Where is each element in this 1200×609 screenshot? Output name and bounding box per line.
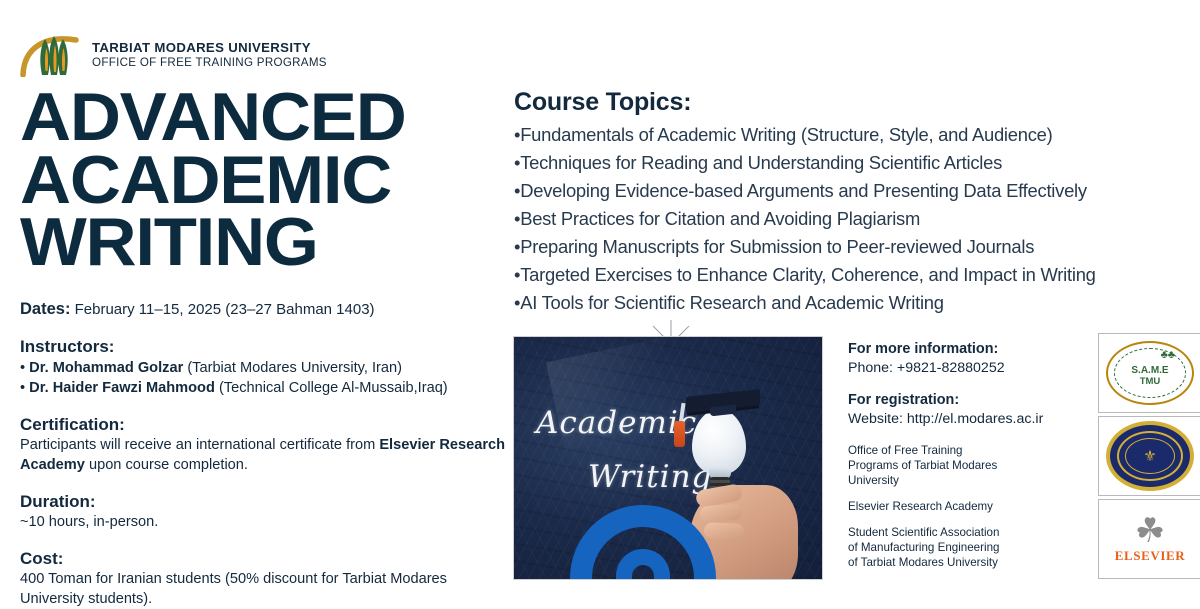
tmu-seal-logo-box: ⚜	[1098, 416, 1200, 496]
left-column: TARBIAT MODARES UNIVERSITY OFFICE OF FRE…	[20, 30, 512, 609]
tmu-tulip-arch-logo-icon	[20, 31, 82, 77]
contact-section: For more information: Phone: +9821-82880…	[848, 340, 1088, 570]
seal-emblem: ⚜	[1143, 449, 1156, 464]
cost-text: 400 Toman for Iranian students (50% disc…	[20, 570, 512, 609]
brand-text: TARBIAT MODARES UNIVERSITY OFFICE OF FRE…	[92, 39, 327, 69]
topic-item: •Preparing Manuscripts for Submission to…	[514, 233, 1200, 261]
course-topics-section: Course Topics: •Fundamentals of Academic…	[514, 88, 1200, 317]
topic-item: •Best Practices for Citation and Avoidin…	[514, 205, 1200, 233]
sponsor-logo-stack: ♣♣ S.A.M.E TMU ⚜ ☘ ELSEVIER	[1098, 333, 1200, 582]
duration-text: ~10 hours, in-person.	[20, 513, 512, 532]
trees-icon: ♣♣	[1161, 350, 1175, 361]
certification-text-before: Participants will receive an internation…	[20, 437, 379, 453]
tarbiat-modares-university-seal-icon: ⚜	[1106, 421, 1194, 491]
registration-heading: For registration:	[848, 391, 1088, 410]
instructors-block: Instructors: • Dr. Mohammad Golzar (Tarb…	[20, 336, 512, 398]
instructor-name: Dr. Haider Fawzi Mahmood	[29, 380, 215, 396]
bullet: •	[20, 380, 25, 396]
title-line-1: ADVANCED	[20, 86, 532, 149]
organizer-item: Elsevier Research Academy	[848, 499, 1088, 514]
topic-item: •Developing Evidence-based Arguments and…	[514, 177, 1200, 205]
instructor-item: • Dr. Haider Fawzi Mahmood (Technical Co…	[20, 378, 512, 398]
duration-heading: Duration:	[20, 491, 512, 513]
course-photo: Academic Writing	[513, 336, 823, 580]
instructors-heading: Instructors:	[20, 336, 512, 358]
same-tmu-logo-icon: ♣♣ S.A.M.E TMU	[1106, 341, 1194, 405]
registration-website-link[interactable]: Website: http://el.modares.ac.ir	[848, 410, 1088, 429]
photo-script-line-1: Academic	[536, 405, 697, 441]
elsevier-wordmark: ELSEVIER	[1115, 549, 1186, 562]
certification-block: Certification: Participants will receive…	[20, 414, 512, 475]
bullet: •	[20, 360, 25, 376]
tmu-label: TMU	[1140, 376, 1161, 388]
certification-text: Participants will receive an internation…	[20, 436, 512, 475]
dates-row: Dates: February 11–15, 2025 (23–27 Bahma…	[20, 298, 512, 320]
university-name: TARBIAT MODARES UNIVERSITY	[92, 41, 327, 56]
elsevier-tree-icon: ☘	[1115, 516, 1186, 547]
organizer-item: Office of Free Training Programs of Tarb…	[848, 443, 1088, 488]
elsevier-logo-box: ☘ ELSEVIER	[1098, 499, 1200, 579]
phone-number[interactable]: Phone: +9821-82880252	[848, 359, 1088, 378]
certification-text-after: upon course completion.	[85, 457, 248, 473]
topic-item: •Fundamentals of Academic Writing (Struc…	[514, 121, 1200, 149]
instructor-affiliation: (Technical College Al-Mussaib,Iraq)	[219, 380, 448, 396]
course-topics-heading: Course Topics:	[514, 88, 1200, 117]
dates-value: February 11–15, 2025 (23–27 Bahman 1403)	[75, 301, 375, 318]
same-label: S.A.M.E	[1131, 366, 1168, 376]
office-name: OFFICE OF FREE TRAINING PROGRAMS	[92, 56, 327, 69]
instructor-affiliation: (Tarbiat Modares University, Iran)	[187, 360, 402, 376]
page-title: ADVANCED ACADEMIC WRITING	[20, 86, 532, 274]
tassel-icon	[674, 421, 685, 447]
title-line-2: ACADEMIC	[20, 149, 532, 212]
spacer	[848, 378, 1088, 391]
photo-script-line-2: Writing	[588, 459, 712, 495]
topic-item: •Targeted Exercises to Enhance Clarity, …	[514, 261, 1200, 289]
blue-arch-graphic	[570, 505, 716, 580]
more-information-heading: For more information:	[848, 340, 1088, 359]
same-tmu-logo-box: ♣♣ S.A.M.E TMU	[1098, 333, 1200, 413]
organizer-item: Student Scientific Association of Manufa…	[848, 525, 1088, 570]
brand-header: TARBIAT MODARES UNIVERSITY OFFICE OF FRE…	[20, 30, 512, 78]
certification-heading: Certification:	[20, 414, 512, 436]
topic-item: •AI Tools for Scientific Research and Ac…	[514, 289, 1200, 317]
poster-canvas: TARBIAT MODARES UNIVERSITY OFFICE OF FRE…	[0, 0, 1200, 600]
instructor-item: • Dr. Mohammad Golzar (Tarbiat Modares U…	[20, 358, 512, 378]
dates-label: Dates:	[20, 300, 70, 318]
instructor-name: Dr. Mohammad Golzar	[29, 360, 183, 376]
chalkboard-photo-image: Academic Writing	[513, 336, 823, 580]
duration-block: Duration: ~10 hours, in-person.	[20, 491, 512, 532]
cost-heading: Cost:	[20, 548, 512, 570]
title-line-3: WRITING	[20, 211, 532, 274]
elsevier-logo-icon: ☘ ELSEVIER	[1115, 516, 1186, 562]
topic-item: •Techniques for Reading and Understandin…	[514, 149, 1200, 177]
